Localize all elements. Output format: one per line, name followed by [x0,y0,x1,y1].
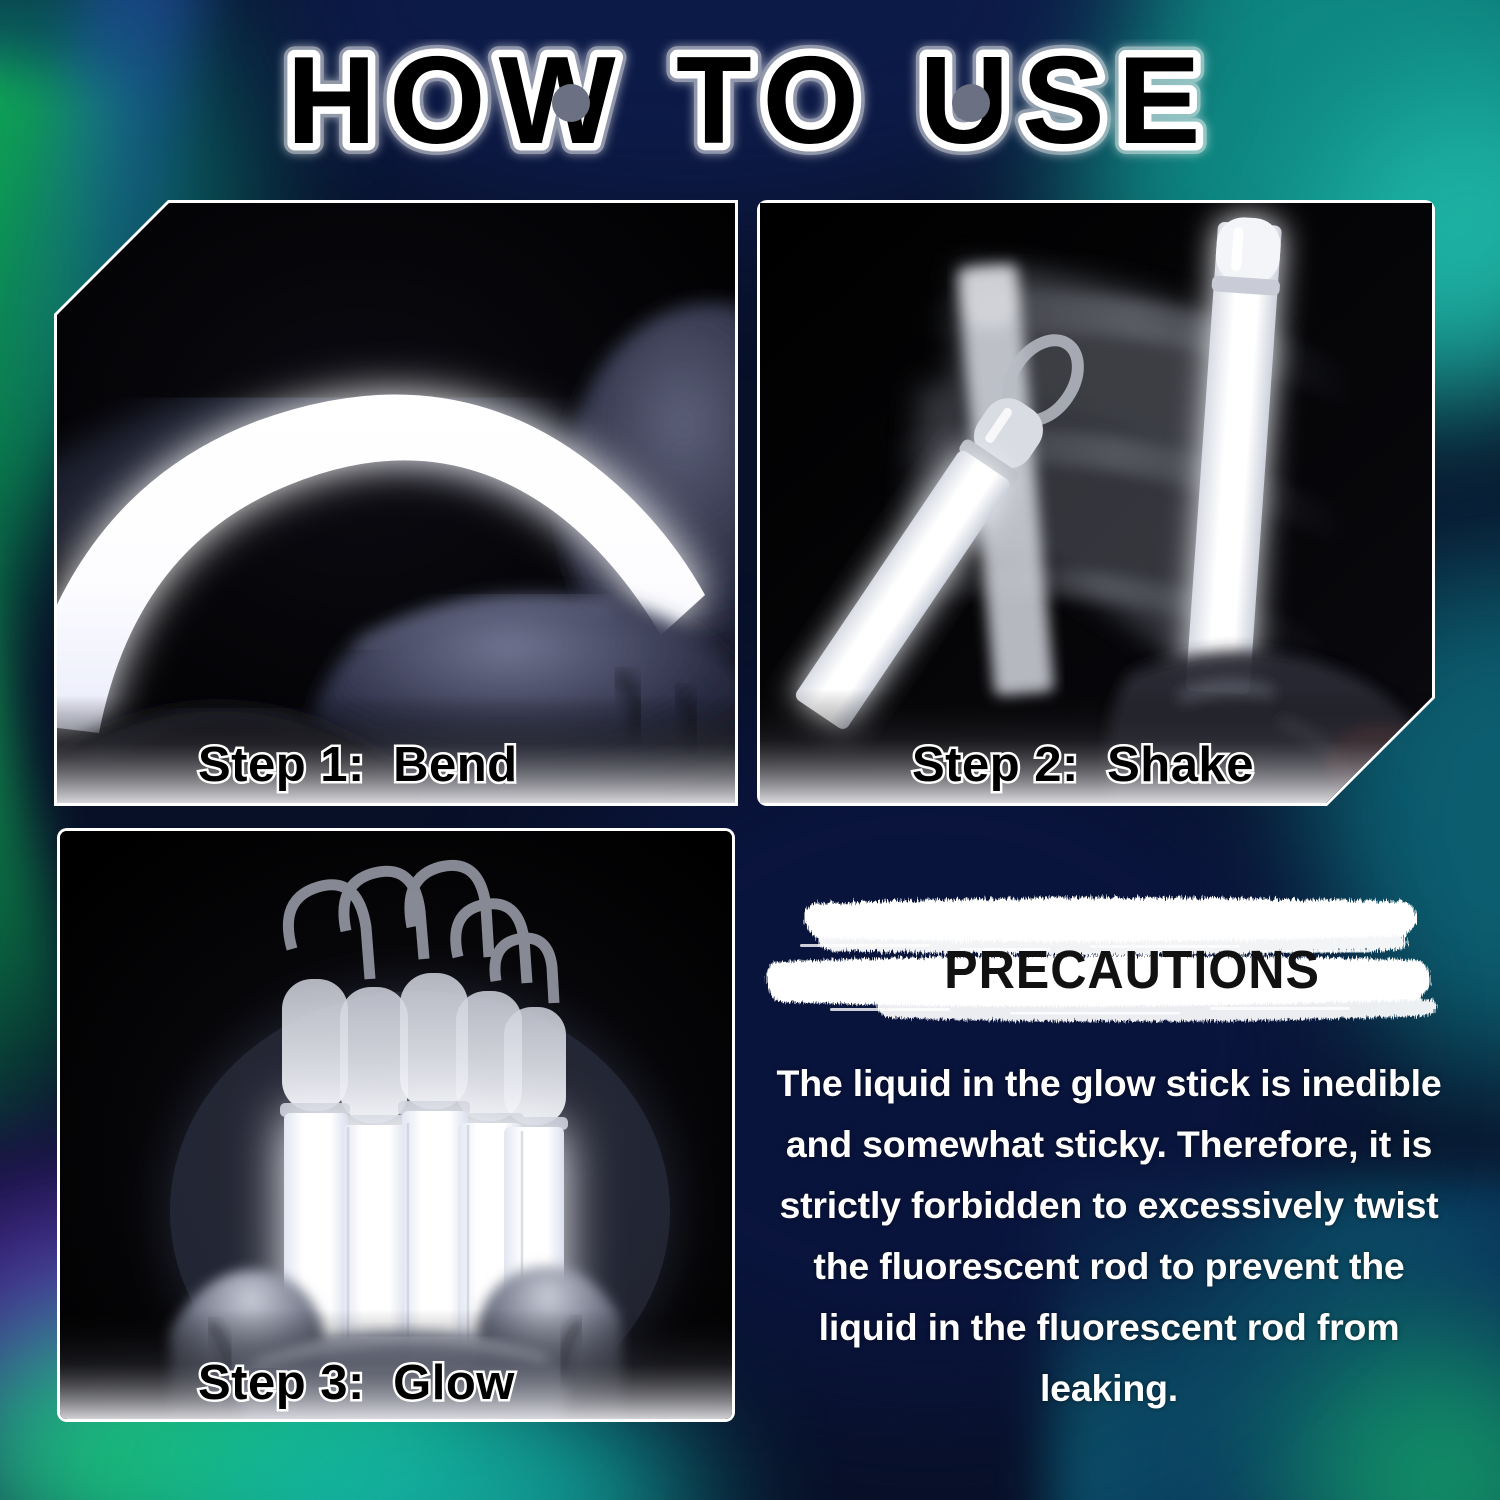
step-2-image [760,203,1432,803]
precautions-block: PRECAUTIONS The liquid in the glow stick… [755,888,1455,1418]
page-title: HOW TO USE HOW TO USE [0,34,1500,174]
precautions-heading: PRECAUTIONS [755,888,1451,1028]
step-1-panel [57,203,735,803]
step-2-label: Step 2: Shake [912,737,1254,793]
step-3-panel [60,831,732,1419]
step-3-label: Step 3: Glow [198,1355,515,1411]
precautions-body-text: The liquid in the glow stick is inedible… [773,1053,1445,1419]
step-3-image [60,831,732,1419]
title-o-dot-1 [552,84,590,122]
title-o-dot-2 [952,84,990,122]
page-title-text: HOW TO USE [287,39,1214,169]
precautions-heading-text: PRECAUTIONS [944,939,1320,1001]
step-1-image [57,203,735,803]
step-2-panel [760,203,1432,803]
page-title-svg: HOW TO USE HOW TO USE [190,39,1310,169]
step-1-label: Step 1: Bend [198,737,518,793]
